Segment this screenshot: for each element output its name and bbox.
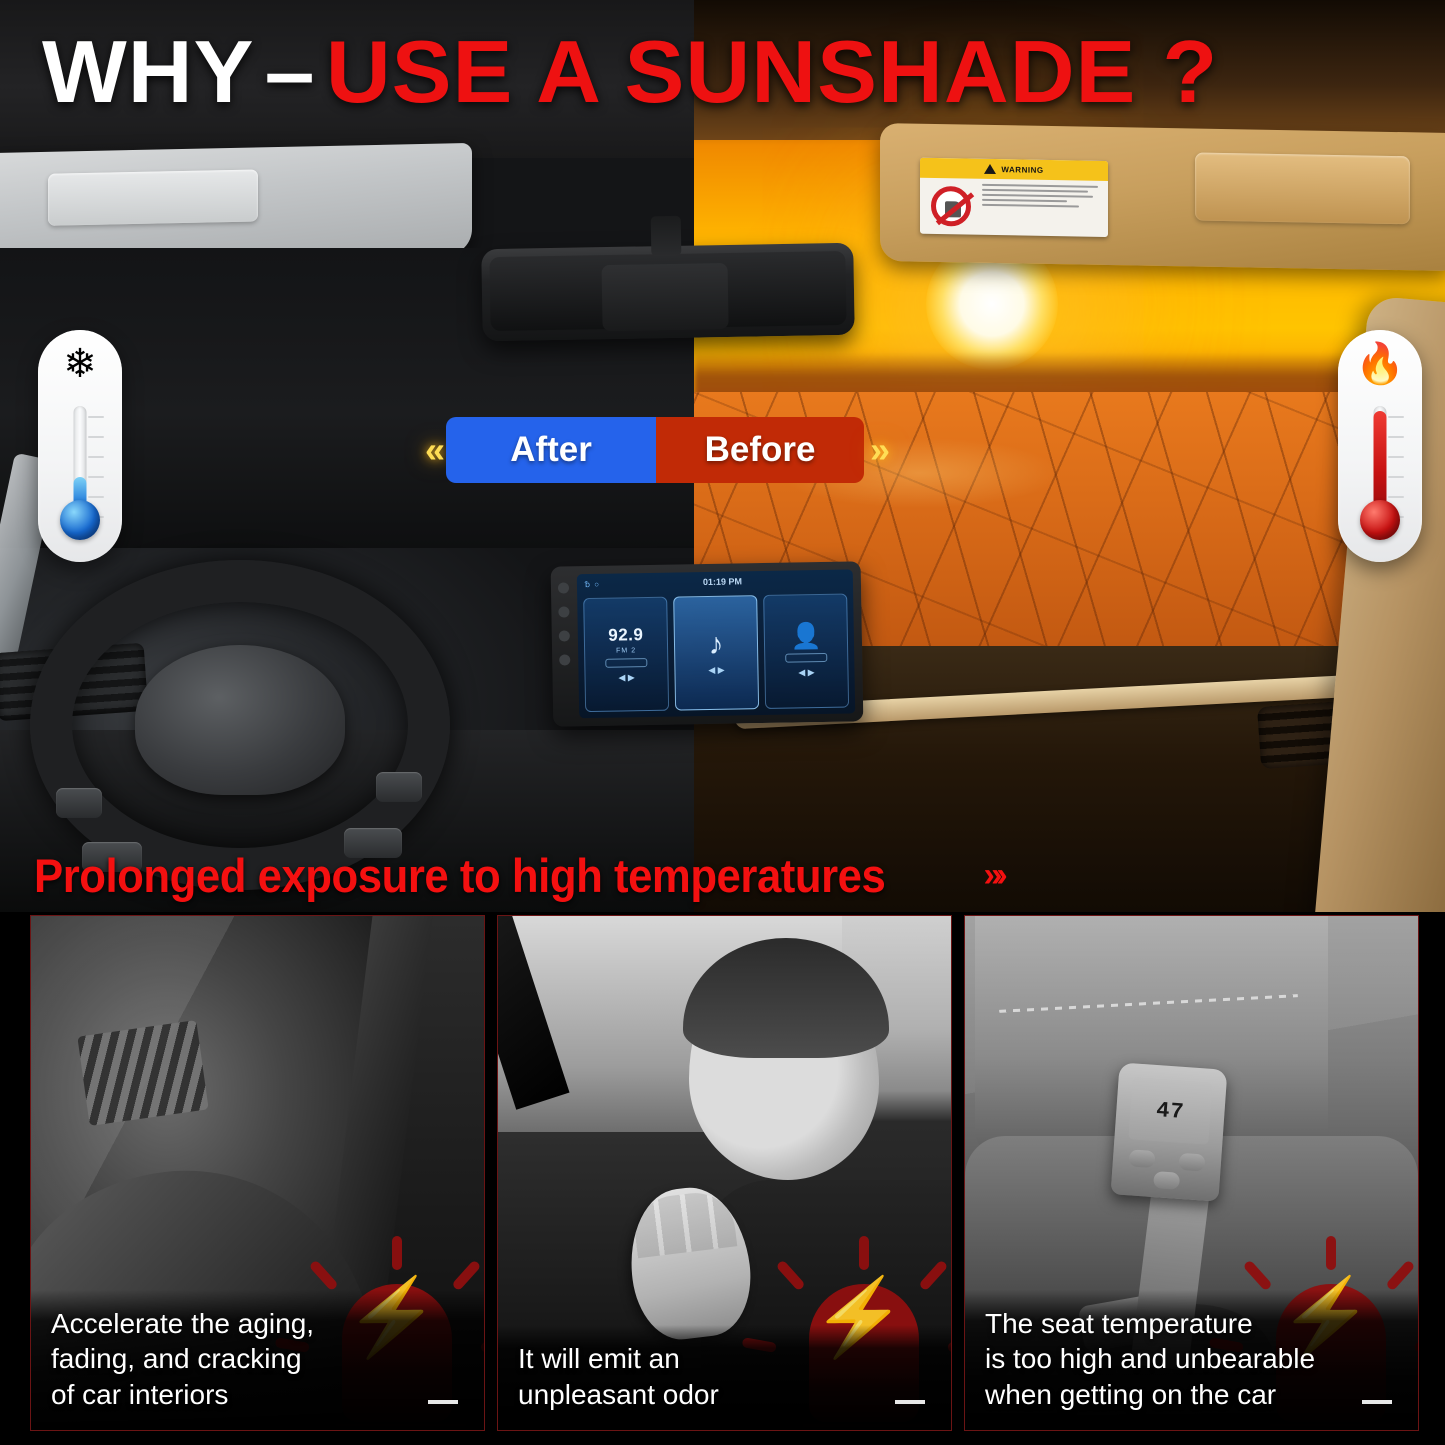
child-seat-shape bbox=[945, 201, 961, 217]
thermometer-bulb-cold bbox=[60, 500, 100, 540]
bluetooth-icon: ␢ ○ bbox=[585, 579, 600, 588]
hero-comparison: WARNING bbox=[0, 0, 1445, 912]
sun-visor-right: WARNING bbox=[880, 123, 1445, 271]
thermometer-button-2 bbox=[1178, 1153, 1205, 1172]
infographic-page: WARNING bbox=[0, 0, 1445, 1445]
caption-underscore-1 bbox=[428, 1400, 458, 1404]
radio-band: FM 2 bbox=[616, 647, 636, 654]
radio-preset-pill[interactable] bbox=[605, 658, 648, 668]
head-unit-tiles: 92.9 FM 2 ◀ ▶ ♪ ◀ ▶ 👤 ◀ ▶ bbox=[577, 589, 855, 718]
warning-triangle-icon bbox=[984, 164, 996, 174]
head-unit-button-4[interactable] bbox=[559, 654, 570, 665]
infotainment-head-unit[interactable]: ␢ ○ 01:19 PM 92.9 FM 2 ◀ ▶ ♪ ◀ ▶ bbox=[551, 561, 864, 726]
mirror-mount-housing bbox=[602, 263, 729, 331]
snowflake-icon: ❄ bbox=[63, 344, 97, 384]
head-unit-button-1[interactable] bbox=[558, 582, 569, 593]
title-why: WHY bbox=[42, 22, 254, 121]
head-unit-button-2[interactable] bbox=[558, 606, 569, 617]
rear-view-mirror bbox=[481, 243, 855, 341]
card-caption: Accelerate the aging, fading, and cracki… bbox=[31, 1290, 484, 1430]
tagline-text: Prolonged exposure to high temperatures bbox=[34, 848, 885, 903]
card-caption: The seat temperature is too high and unb… bbox=[965, 1290, 1418, 1430]
before-badge: Before bbox=[656, 417, 864, 483]
sun-visor-left bbox=[0, 143, 472, 265]
profile-arrows[interactable]: ◀ ▶ bbox=[798, 667, 815, 678]
media-transport-arrows[interactable]: ◀ ▶ bbox=[708, 665, 725, 676]
page-title: WHY–USE A SUNSHADE ? bbox=[0, 20, 1445, 124]
media-tile[interactable]: ♪ ◀ ▶ bbox=[673, 595, 759, 710]
caption-underscore-3 bbox=[1362, 1400, 1392, 1404]
warning-label-text-lines bbox=[982, 179, 1108, 237]
head-unit-clock: 01:19 PM bbox=[703, 576, 742, 587]
warning-label-body bbox=[920, 178, 1108, 237]
caption-underscore-2 bbox=[895, 1400, 925, 1404]
radio-tile[interactable]: 92.9 FM 2 ◀ ▶ bbox=[583, 597, 669, 712]
head-unit-screen[interactable]: ␢ ○ 01:19 PM 92.9 FM 2 ◀ ▶ ♪ ◀ ▶ bbox=[577, 569, 855, 718]
thermometer-button-1 bbox=[1129, 1149, 1156, 1168]
steering-button-right bbox=[376, 772, 422, 802]
no-child-seat-icon bbox=[920, 178, 982, 235]
after-badge: After bbox=[446, 417, 656, 483]
title-dash: – bbox=[254, 22, 325, 121]
person-icon: 👤 bbox=[790, 624, 822, 650]
profile-pill[interactable] bbox=[785, 653, 828, 663]
radio-seek-arrows[interactable]: ◀ ▶ bbox=[618, 672, 635, 683]
infrared-thermometer-gun: 47 bbox=[1111, 1062, 1228, 1201]
radio-frequency: 92.9 bbox=[608, 625, 643, 646]
card-seat-temperature: 47 The seat temperature is too high and … bbox=[964, 915, 1419, 1431]
warning-label-heading: WARNING bbox=[1001, 165, 1043, 175]
card-interior-aging: Accelerate the aging, fading, and cracki… bbox=[30, 915, 485, 1431]
mirror-stalk bbox=[651, 216, 682, 257]
cold-thermometer: ❄ bbox=[38, 330, 122, 562]
consequence-cards: Accelerate the aging, fading, and cracki… bbox=[0, 915, 1445, 1445]
chevron-right-icon: » bbox=[870, 429, 885, 471]
title-line: WHY–USE A SUNSHADE ? bbox=[42, 21, 1218, 123]
card-odor: It will emit an unpleasant odor bbox=[497, 915, 952, 1431]
thermometer-reading: 47 bbox=[1155, 1098, 1185, 1125]
tagline-chevrons-icon: »› bbox=[983, 856, 1001, 895]
steering-button-left bbox=[56, 788, 102, 818]
hot-thermometer: 🔥 bbox=[1338, 330, 1422, 562]
thermometer-lcd-display: 47 bbox=[1128, 1077, 1212, 1144]
prohibition-circle bbox=[931, 186, 971, 227]
chevron-left-icon: « bbox=[425, 429, 440, 471]
tagline-banner: Prolonged exposure to high temperatures … bbox=[0, 836, 1445, 914]
airbag-warning-label: WARNING bbox=[920, 158, 1108, 237]
before-after-badges: « After Before » bbox=[425, 414, 945, 486]
head-unit-side-buttons[interactable] bbox=[558, 582, 573, 665]
thermometer-bulb-hot bbox=[1360, 500, 1400, 540]
profile-tile[interactable]: 👤 ◀ ▶ bbox=[763, 594, 849, 709]
card-caption: It will emit an unpleasant odor bbox=[498, 1325, 951, 1430]
defroster-vents-shape bbox=[77, 1020, 208, 1126]
title-highlight: USE A SUNSHADE ? bbox=[326, 22, 1218, 121]
head-unit-button-3[interactable] bbox=[559, 630, 570, 641]
music-note-icon: ♪ bbox=[708, 630, 724, 660]
thermometer-button-3 bbox=[1153, 1171, 1180, 1190]
flame-icon: 🔥 bbox=[1355, 344, 1405, 384]
